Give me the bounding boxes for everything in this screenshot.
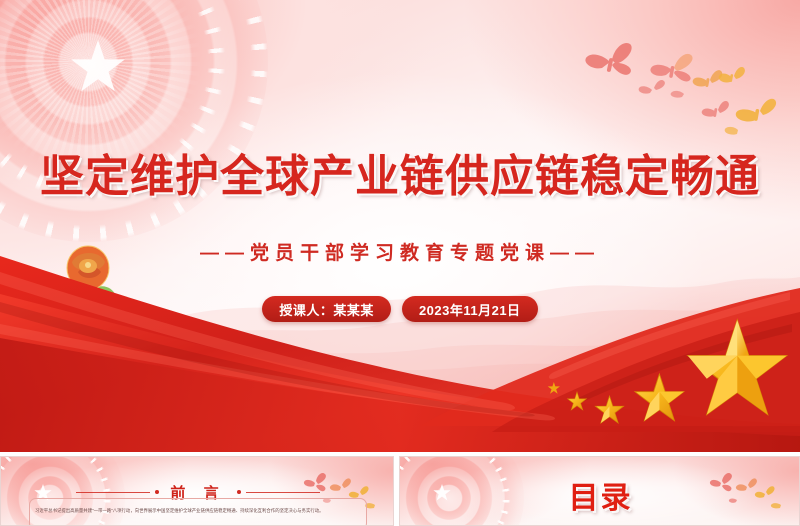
preface-body-text: 习近平总书记提出高质量共建"一带一路"八项行动，向世界展示中国坚定维护全球产业链…	[35, 507, 361, 526]
divider-left	[76, 492, 150, 493]
slide-thumbnail-row: 前 言 习近平总书记提出高质量共建"一带一路"八项行动，向世界展示中国坚定维护全…	[0, 456, 800, 526]
butterflies-icon	[580, 18, 800, 138]
cover-slide: 坚定维护全球产业链供应链稳定畅通 ——党员干部学习教育专题党课—— 授课人：某某…	[0, 0, 800, 452]
divider-dot-left	[155, 490, 159, 494]
ppt-cover-preview: 坚定维护全球产业链供应链稳定畅通 ——党员干部学习教育专题党课—— 授课人：某某…	[0, 0, 800, 526]
slide-thumbnail-preface[interactable]: 前 言 习近平总书记提出高质量共建"一带一路"八项行动，向世界展示中国坚定维护全…	[0, 456, 394, 526]
badge-group: 授课人：某某某 2023年11月21日	[0, 296, 800, 322]
divider-dot-right	[237, 490, 241, 494]
divider-right	[246, 492, 320, 493]
slide-thumbnail-catalog[interactable]: 目录	[399, 456, 800, 526]
date-badge[interactable]: 2023年11月21日	[402, 296, 538, 322]
page-title: 坚定维护全球产业链供应链稳定畅通	[0, 150, 800, 204]
catalog-title: 目录	[400, 473, 800, 517]
page-subtitle: ——党员干部学习教育专题党课——	[0, 238, 800, 265]
presenter-badge[interactable]: 授课人：某某某	[262, 296, 391, 322]
